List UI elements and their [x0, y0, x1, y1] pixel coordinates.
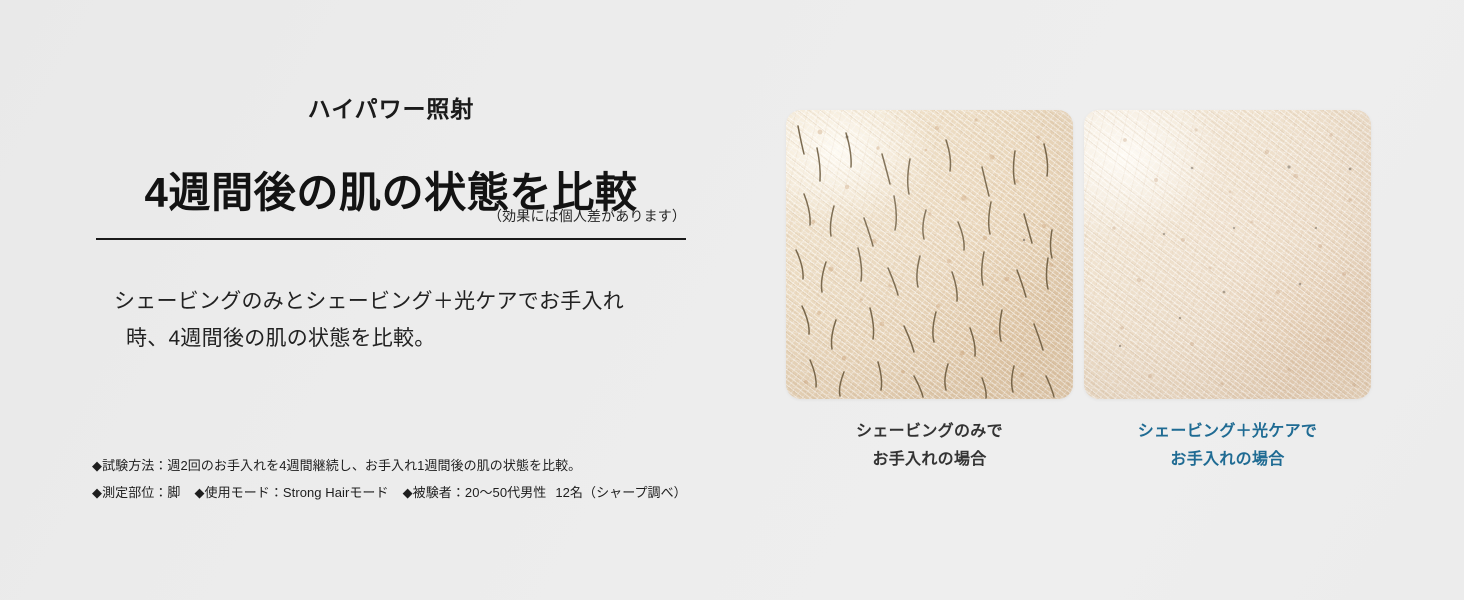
- promo-comparison-page: ハイパワー照射 4週間後の肌の状態を比較 （効果には個人差があります） シェービ…: [0, 0, 1464, 600]
- footnote-line-1: ◆試験方法：週2回のお手入れを4週間継続し、お手入れ1週間後の肌の状態を比較。: [92, 453, 732, 480]
- disclaimer-note: （効果には個人差があります）: [96, 206, 686, 226]
- caption-shaving-plus-light-care: シェービング＋光ケアで お手入れの場合: [1084, 418, 1371, 473]
- caption-shaving-only: シェービングのみで お手入れの場合: [786, 418, 1073, 473]
- caption-line-1: シェービングのみで: [786, 418, 1073, 446]
- lede-paragraph: シェービングのみとシェービング＋光ケアでお手入れ 時、4週間後の肌の状態を比較。: [114, 283, 694, 358]
- eyebrow-label: ハイパワー照射: [96, 96, 686, 124]
- footnote-subjects: ◆被験者：20〜50代男性: [403, 485, 547, 500]
- footnote-site: ◆測定部位：脚: [92, 485, 180, 500]
- footnote-mode: ◆使用モード：Strong Hairモード: [194, 485, 388, 500]
- caption-line-2: お手入れの場合: [1084, 446, 1371, 474]
- photo-captions: シェービングのみで お手入れの場合 シェービング＋光ケアで お手入れの場合: [786, 418, 1396, 473]
- footnote-method: ◆試験方法：週2回のお手入れを4週間継続し、お手入れ1週間後の肌の状態を比較。: [92, 458, 581, 473]
- footnote-line-2: ◆測定部位：脚◆使用モード：Strong Hairモード◆被験者：20〜50代男…: [92, 480, 732, 507]
- photo-column: シェービングのみで お手入れの場合 シェービング＋光ケアで お手入れの場合: [760, 0, 1464, 600]
- hair-strands-layer: [786, 110, 1073, 399]
- lede-line-2: 時、4週間後の肌の状態を比較。: [114, 320, 694, 357]
- footnotes: ◆試験方法：週2回のお手入れを4週間継続し、お手入れ1週間後の肌の状態を比較。 …: [92, 453, 732, 506]
- skin-image-before: [786, 110, 1073, 399]
- caption-line-1: シェービング＋光ケアで: [1084, 418, 1371, 446]
- shaving-only-photo: [786, 110, 1073, 399]
- photo-pair: [786, 110, 1396, 399]
- skin-speckle-layer: [1084, 110, 1371, 399]
- lede-line-1: シェービングのみとシェービング＋光ケアでお手入れ: [114, 283, 694, 320]
- text-column: ハイパワー照射 4週間後の肌の状態を比較 （効果には個人差があります） シェービ…: [0, 0, 760, 600]
- footnote-count: 12名（シャープ調べ）: [555, 485, 686, 500]
- shaving-plus-light-care-photo: [1084, 110, 1371, 399]
- caption-line-2: お手入れの場合: [786, 446, 1073, 474]
- skin-image-after: [1084, 110, 1371, 399]
- divider: [96, 238, 686, 240]
